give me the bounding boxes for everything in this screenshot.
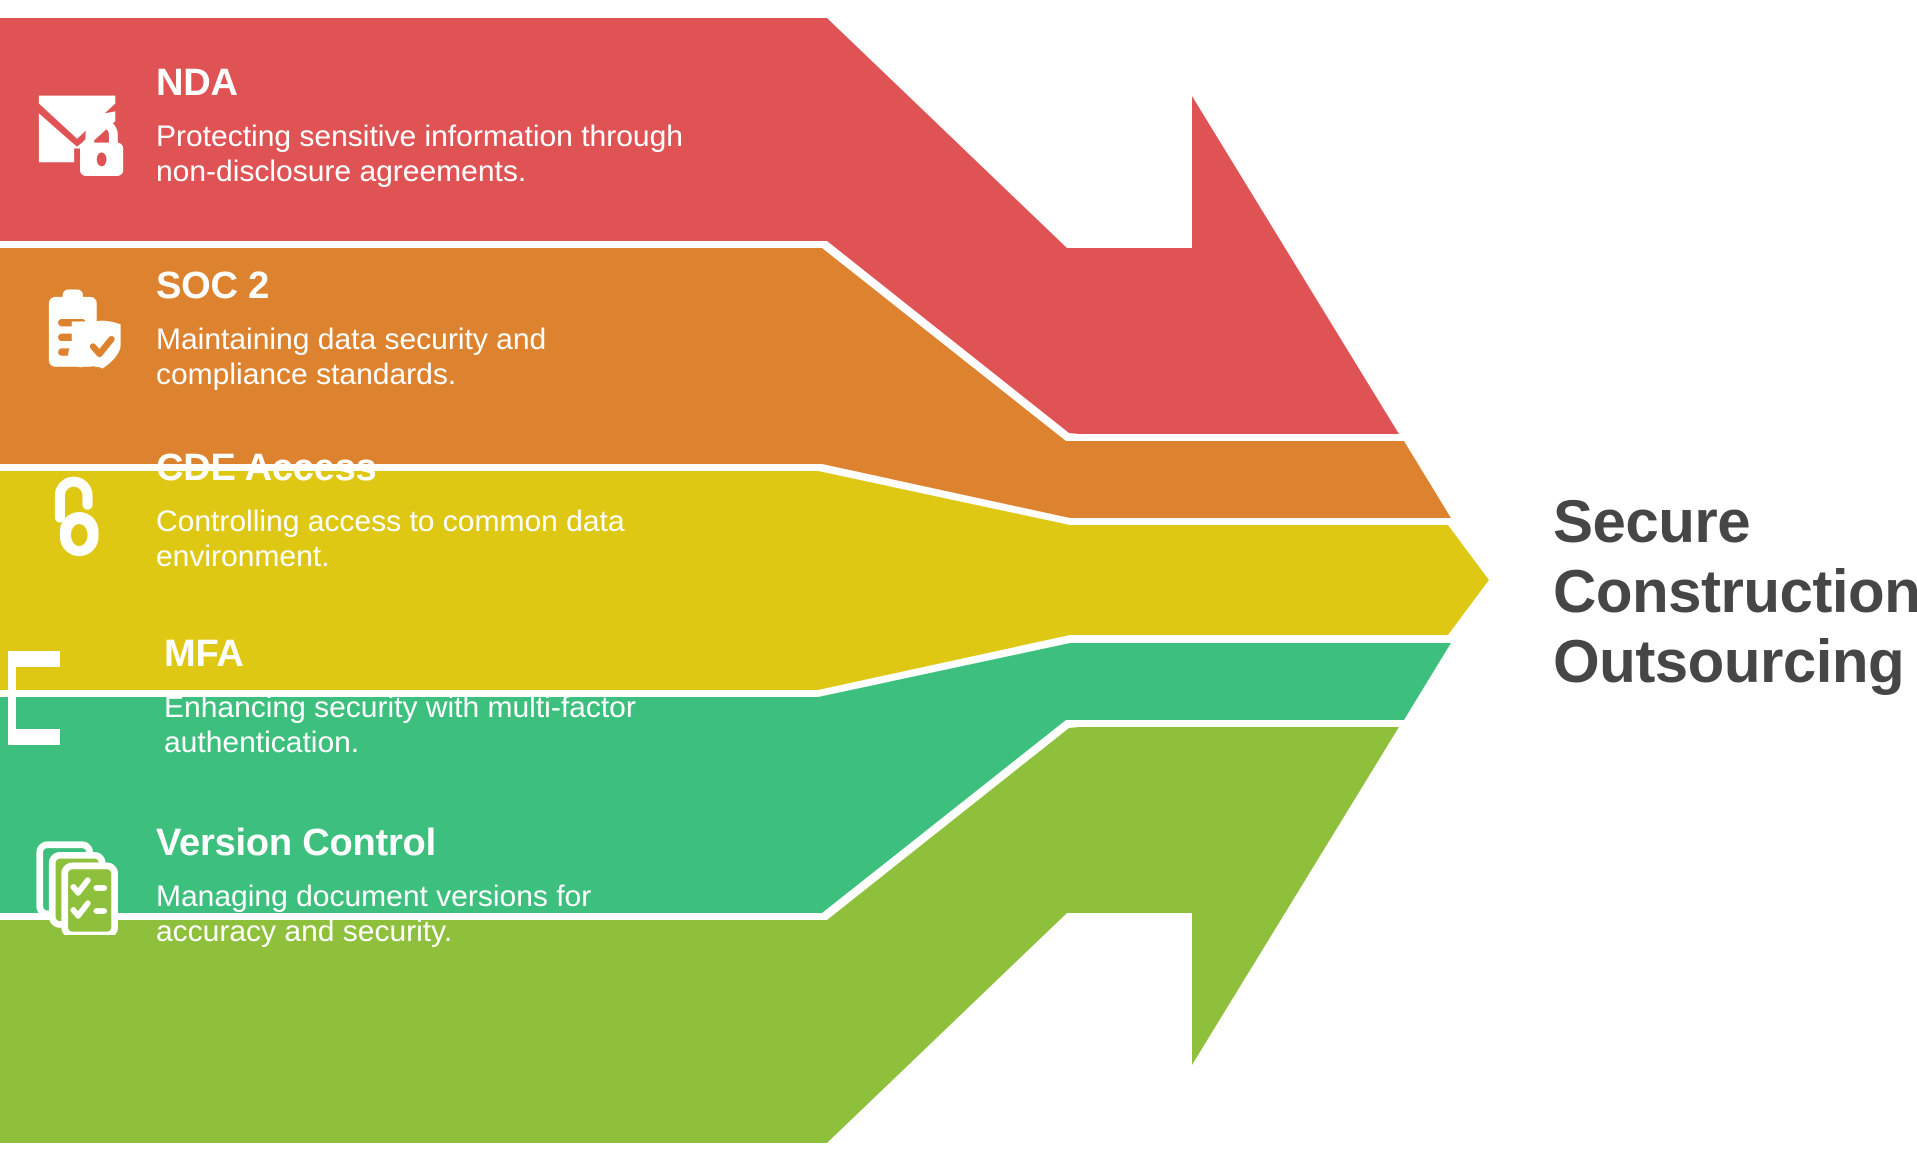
stacked-documents-checklist-icon (22, 839, 142, 935)
band-desc-cde-access: Controlling access to common data enviro… (156, 505, 700, 575)
band-content-nda: NDA Protecting sensitive information thr… (0, 22, 700, 232)
band-title-version-control: Version Control (156, 824, 700, 864)
page-title: Secure Construction Outsourcing (1553, 487, 1917, 698)
band-text-version-control: Version Control Managing document versio… (156, 824, 700, 949)
band-text-soc2: SOC 2 Maintaining data security and comp… (156, 267, 700, 392)
band-title-mfa: MFA (164, 635, 700, 675)
band-desc-soc2: Maintaining data security and compliance… (156, 323, 700, 393)
band-desc-nda: Protecting sensitive information through… (156, 120, 700, 190)
open-padlock-icon (22, 466, 142, 558)
band-title-nda: NDA (156, 64, 700, 104)
band-title-cde-access: CDE Access (156, 449, 700, 489)
band-text-cde-access: CDE Access Controlling access to common … (156, 449, 700, 574)
band-text-mfa: MFA Enhancing security with multi-factor… (164, 635, 700, 760)
band-content-mfa: MFA Enhancing security with multi-factor… (0, 598, 700, 798)
envelope-lock-icon (22, 78, 142, 176)
page-title-line-2: Construction (1553, 557, 1917, 627)
clipboard-shield-check-icon (22, 284, 142, 376)
band-desc-version-control: Managing document versions for accuracy … (156, 880, 700, 950)
band-content-cde-access: CDE Access Controlling access to common … (0, 412, 700, 612)
band-content-soc2: SOC 2 Maintaining data security and comp… (0, 230, 700, 430)
page-title-line-1: Secure (1553, 487, 1917, 557)
band-content-version-control: Version Control Managing document versio… (0, 782, 700, 992)
page-title-line-3: Outsourcing (1553, 627, 1917, 697)
band-title-soc2: SOC 2 (156, 267, 700, 307)
mobile-phone-icon (8, 643, 128, 753)
infographic-canvas: NDA Protecting sensitive information thr… (0, 0, 1917, 1161)
band-desc-mfa: Enhancing security with multi-factor aut… (164, 691, 700, 761)
band-text-nda: NDA Protecting sensitive information thr… (156, 64, 700, 189)
